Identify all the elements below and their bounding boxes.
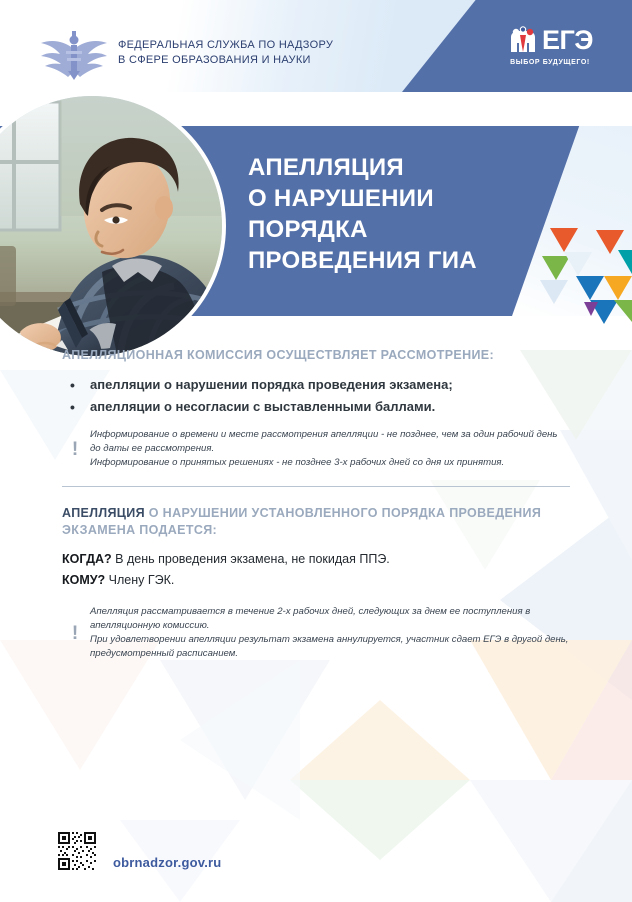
page-footer: obrnadzor.gov.ru [0,812,632,902]
ege-people-icon [507,25,539,55]
list-item: апелляции о нарушении порядка проведения… [62,374,570,396]
section1-heading: АПЕЛЛЯЦИОННАЯ КОМИССИЯ ОСУЩЕСТВЛЯЕТ РАСС… [62,347,570,364]
whom-line: КОМУ? Члену ГЭК. [62,570,570,591]
exclamation-icon: ! [70,624,80,643]
section1-note: ! Информирование о времени и месте рассм… [62,428,570,470]
student-photo [0,92,226,360]
section-appeal-commission: АПЕЛЛЯЦИОННАЯ КОМИССИЯ ОСУЩЕСТВЛЯЕТ РАСС… [0,347,632,470]
section2-heading-bold: АПЕЛЛЯЦИЯ [62,506,145,520]
section2-details: КОГДА? В день проведения экзамена, не по… [62,549,570,591]
when-label: КОГДА? [62,552,112,566]
section2-heading: АПЕЛЛЯЦИЯ О НАРУШЕНИИ УСТАНОВЛЕННОГО ПОР… [62,505,570,539]
ege-logo-word: ЕГЭ [542,27,593,54]
ege-logo: ЕГЭ ВЫБОР БУДУЩЕГО! [496,25,604,75]
banner-title: АПЕЛЛЯЦИЯ О НАРУШЕНИИ ПОРЯДКА ПРОВЕДЕНИЯ… [248,152,477,276]
section2-note-text: Апелляция рассматривается в течение 2-х … [90,605,570,661]
poster-page: ФЕДЕРАЛЬНАЯ СЛУЖБА ПО НАДЗОРУ В СФЕРЕ ОБ… [0,0,632,902]
content-area: АПЕЛЛЯЦИОННАЯ КОМИССИЯ ОСУЩЕСТВЛЯЕТ РАСС… [0,347,632,661]
whom-value: Члену ГЭК. [105,573,174,587]
page-header: ФЕДЕРАЛЬНАЯ СЛУЖБА ПО НАДЗОРУ В СФЕРЕ ОБ… [0,0,632,92]
organization-title: ФЕДЕРАЛЬНАЯ СЛУЖБА ПО НАДЗОРУ В СФЕРЕ ОБ… [118,38,333,68]
section-divider [62,486,570,487]
section-appeal-submission: АПЕЛЛЯЦИЯ О НАРУШЕНИИ УСТАНОВЛЕННОГО ПОР… [0,505,632,661]
section1-note-text: Информирование о времени и месте рассмот… [90,428,570,470]
list-item: апелляции о несогласии с выставленными б… [62,396,570,418]
whom-label: КОМУ? [62,573,105,587]
student-photo-illustration [0,96,224,358]
section2-note: ! Апелляция рассматривается в течение 2-… [62,605,570,661]
ege-logo-tagline: ВЫБОР БУДУЩЕГО! [496,59,604,66]
rosobrnadzor-emblem-icon [38,27,110,82]
decorative-triangle-cluster [540,220,632,325]
ege-logo-mark: ЕГЭ [496,25,604,55]
when-line: КОГДА? В день проведения экзамена, не по… [62,549,570,570]
exclamation-icon: ! [70,440,80,459]
title-banner: АПЕЛЛЯЦИЯ О НАРУШЕНИИ ПОРЯДКА ПРОВЕДЕНИЯ… [0,92,632,347]
qr-code[interactable] [56,830,98,872]
website-url[interactable]: obrnadzor.gov.ru [113,855,221,870]
when-value: В день проведения экзамена, не покидая П… [112,552,390,566]
section1-bullet-list: апелляции о нарушении порядка проведения… [62,374,570,418]
